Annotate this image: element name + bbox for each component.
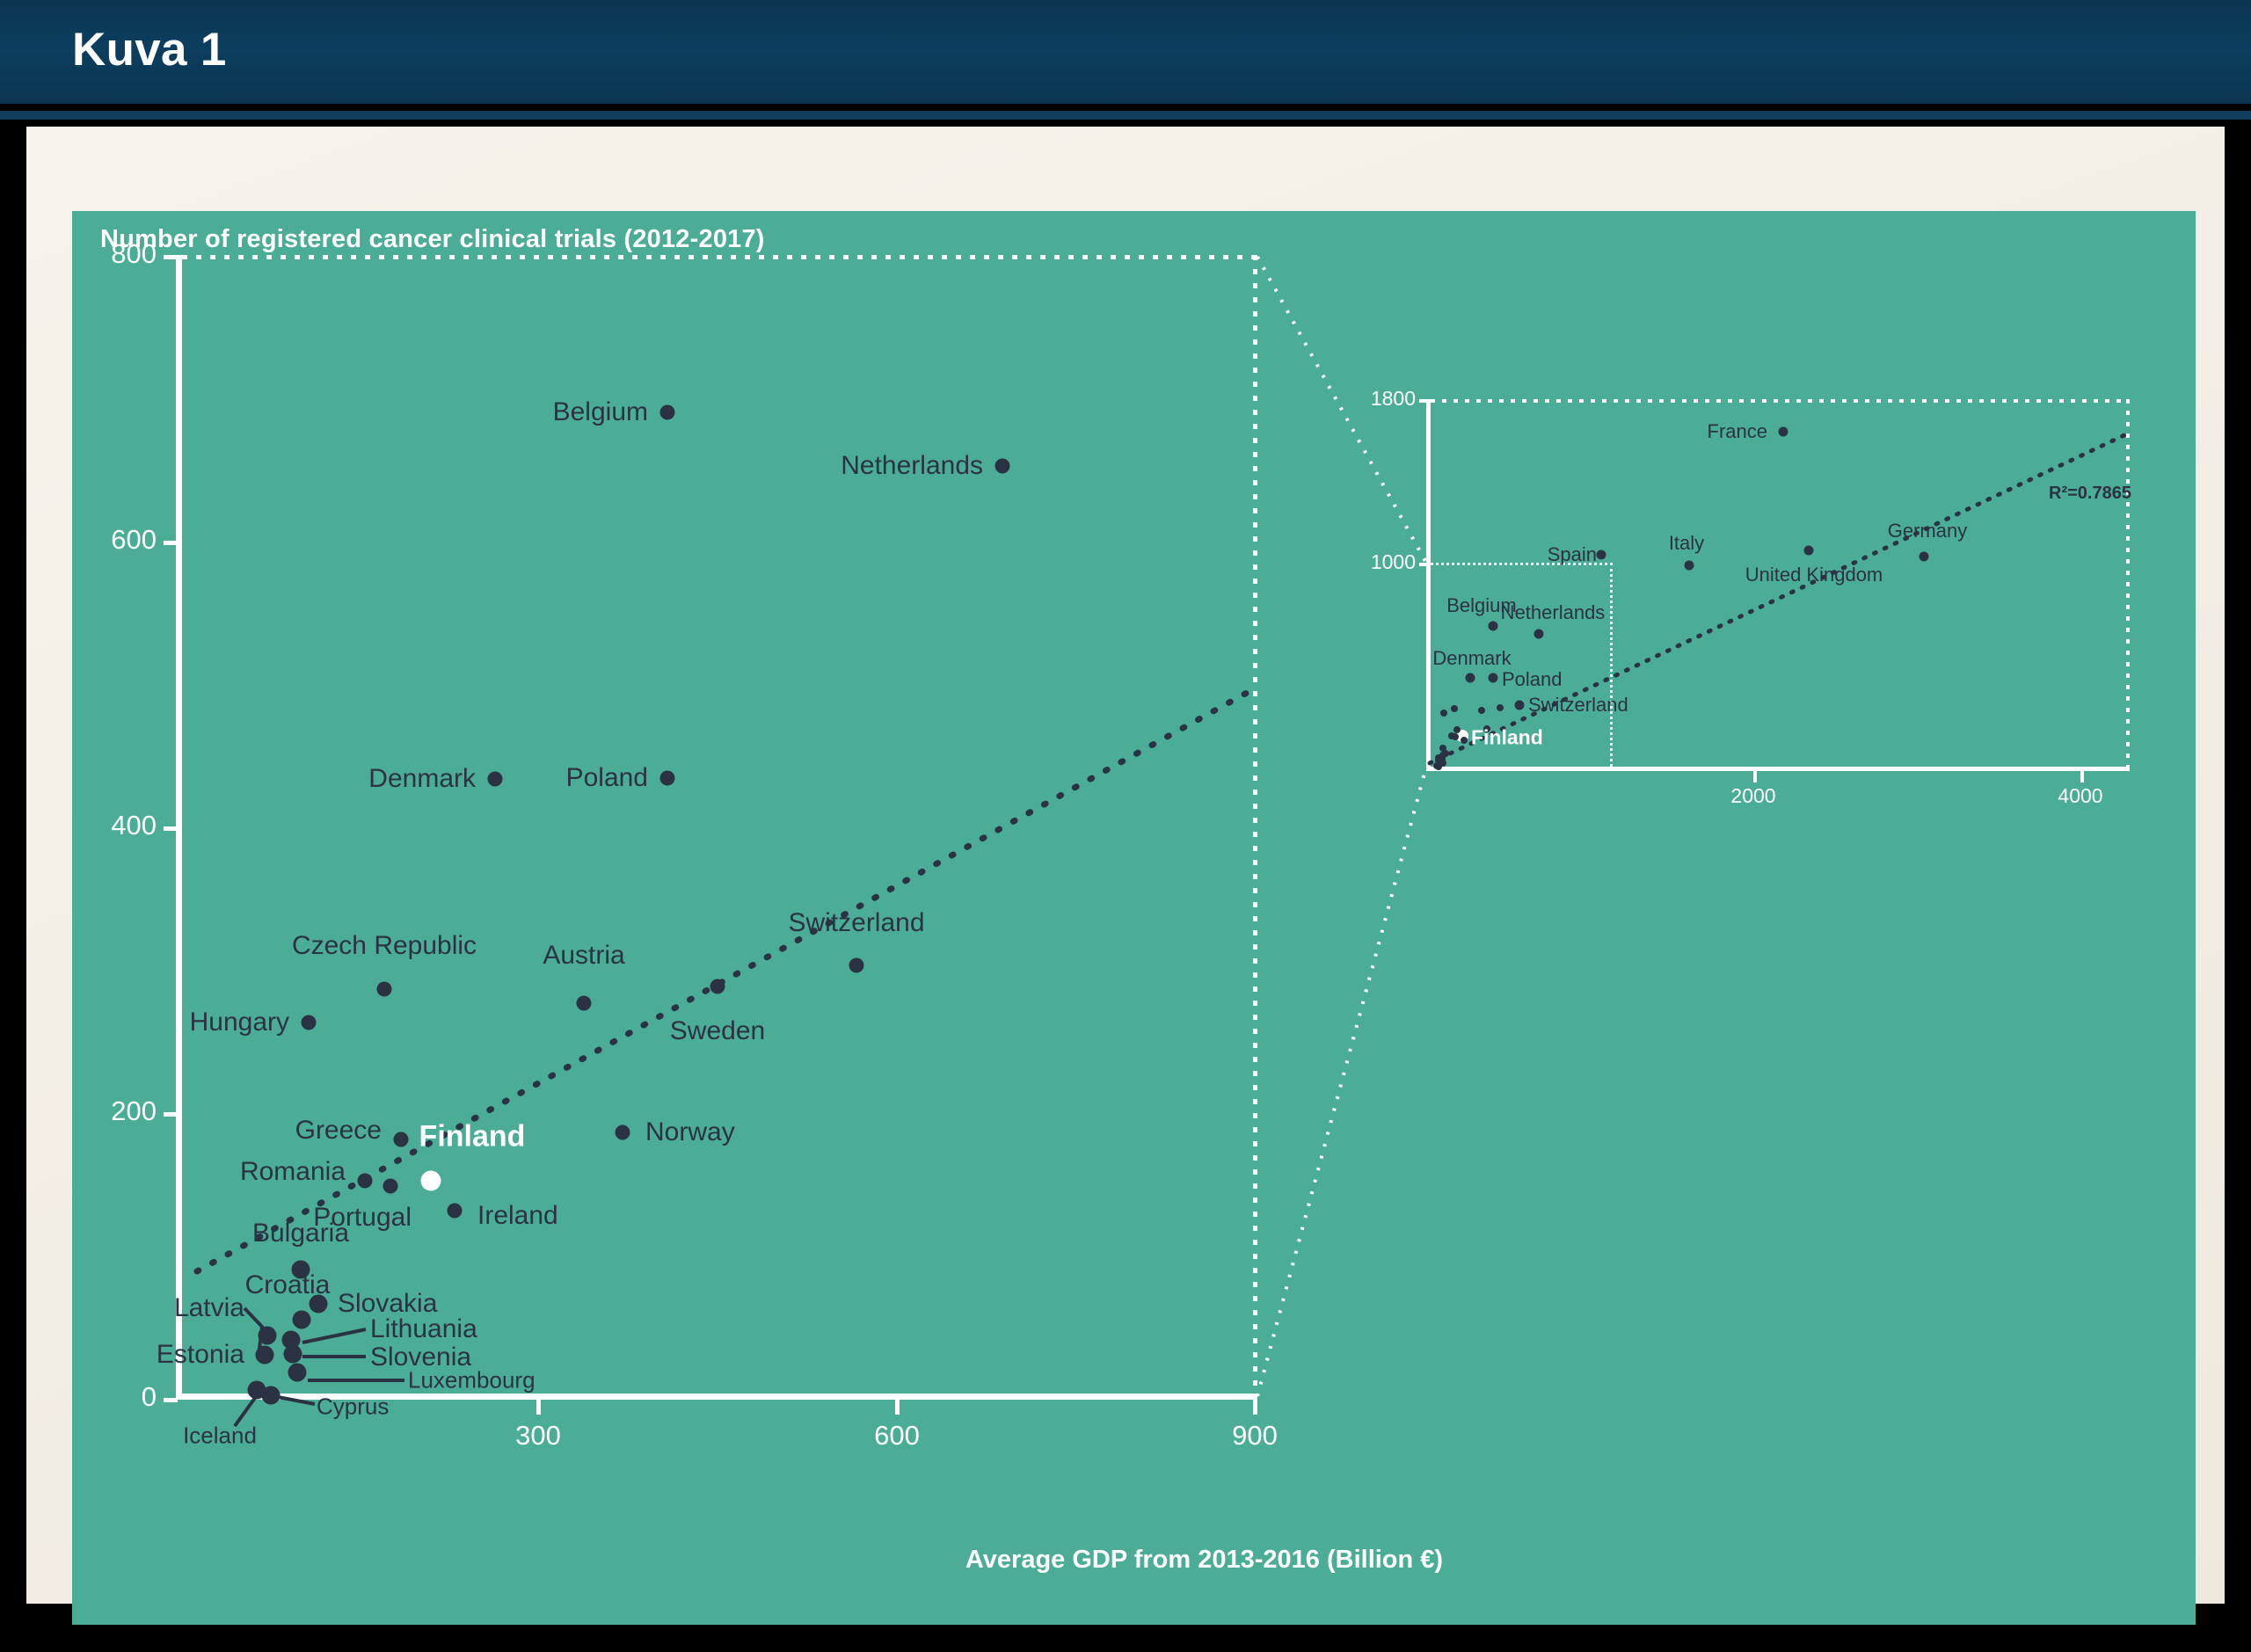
x-tick-label-600: 600 — [835, 1420, 958, 1452]
x-axis-title: Average GDP from 2013-2016 (Billion €) — [965, 1546, 1443, 1575]
inset-point-united-kingdom[interactable] — [1804, 546, 1814, 556]
inset-point-italy[interactable] — [1685, 561, 1694, 571]
point-latvia[interactable] — [259, 1327, 277, 1345]
inset-point-denmark[interactable] — [1466, 673, 1475, 683]
label-luxembourg: Luxembourg — [408, 1367, 535, 1394]
inset-r2-label: R²=0.7865 — [2049, 484, 2131, 504]
point-czech-republic[interactable] — [377, 982, 392, 997]
point-croatia[interactable] — [293, 1311, 311, 1329]
inset-label-france: France — [1708, 420, 1767, 443]
inset-point-poland[interactable] — [1489, 673, 1498, 683]
label-sweden: Sweden — [670, 1016, 765, 1046]
label-estonia: Estonia — [157, 1340, 244, 1370]
plot-border-top-dotted — [182, 255, 1255, 259]
label-lithuania: Lithuania — [370, 1314, 477, 1344]
inset-point-germany[interactable] — [1920, 552, 1929, 562]
point-cyprus[interactable] — [262, 1386, 280, 1405]
inset-point-portugal[interactable] — [1452, 733, 1459, 740]
label-austria: Austria — [543, 941, 624, 971]
inset-label-poland: Poland — [1502, 668, 1563, 691]
point-switzerland[interactable] — [849, 958, 864, 973]
inset-point-greece[interactable] — [1453, 726, 1461, 733]
inset-label-spain: Spain — [1548, 543, 1597, 566]
inset-point-france[interactable] — [1779, 427, 1788, 437]
point-sweden[interactable] — [710, 979, 725, 994]
inset-label-denmark: Denmark — [1432, 647, 1511, 670]
y-tick-label-200: 200 — [72, 1095, 157, 1127]
label-hungary: Hungary — [190, 1008, 289, 1037]
header-divider-bottom — [0, 120, 2251, 127]
label-switzerland: Switzerland — [788, 908, 924, 938]
label-finland: Finland — [419, 1120, 526, 1154]
point-portugal[interactable] — [383, 1179, 398, 1194]
inset-point-austria[interactable] — [1478, 707, 1485, 714]
label-croatia: Croatia — [245, 1270, 331, 1300]
slide-bottom-bar — [0, 1625, 2251, 1652]
inset-label-italy: Italy — [1669, 532, 1704, 555]
point-denmark[interactable] — [488, 772, 503, 787]
inset-label-netherlands: Netherlands — [1501, 601, 1606, 624]
header-divider-mid — [0, 111, 2251, 120]
slide-header-bar: Kuva 1 — [0, 0, 2251, 104]
point-greece[interactable] — [394, 1132, 409, 1147]
label-belgium: Belgium — [553, 397, 648, 427]
y-tick-label-800: 800 — [72, 238, 157, 270]
chart-panel: Number of registered cancer clinical tri… — [72, 211, 2196, 1652]
point-luxembourg[interactable] — [288, 1364, 307, 1382]
point-finland[interactable] — [421, 1171, 441, 1191]
point-austria[interactable] — [577, 996, 592, 1011]
point-poland[interactable] — [660, 771, 675, 786]
label-czech-republic: Czech Republic — [292, 931, 477, 961]
x-tick-label-300: 300 — [477, 1420, 600, 1452]
inset-label-germany: Germany — [1888, 520, 1967, 542]
inset-label-switzerland: Switzerland — [1528, 694, 1628, 717]
page-title: Kuva 1 — [72, 23, 227, 76]
label-latvia: Latvia — [174, 1293, 244, 1323]
x-tick-300 — [536, 1400, 541, 1415]
x-tick-label-900: 900 — [1193, 1420, 1316, 1452]
x-axis-title-wrap: Average GDP from 2013-2016 (Billion €) — [72, 1546, 2196, 1575]
label-norway: Norway — [645, 1117, 735, 1147]
point-romania[interactable] — [358, 1174, 373, 1189]
point-hungary[interactable] — [302, 1015, 317, 1030]
inset-point-switzerland[interactable] — [1515, 701, 1525, 710]
label-denmark: Denmark — [368, 764, 476, 794]
y-tick-400 — [164, 826, 178, 831]
y-tick-800 — [164, 255, 178, 259]
inset-point-hungary[interactable] — [1440, 710, 1447, 717]
point-estonia[interactable] — [256, 1346, 274, 1365]
label-iceland: Iceland — [183, 1423, 257, 1450]
point-ireland[interactable] — [448, 1204, 463, 1219]
x-tick-900 — [1253, 1400, 1257, 1415]
inset-point-sweden[interactable] — [1497, 704, 1504, 711]
label-greece: Greece — [295, 1116, 382, 1146]
point-belgium[interactable] — [660, 405, 675, 420]
inset-scatter-plot: 1800 1000 2000 4000 R²=0.7865 — [1380, 387, 2154, 800]
y-tick-label-0: 0 — [72, 1381, 157, 1413]
y-tick-0 — [164, 1398, 178, 1402]
y-tick-label-400: 400 — [72, 810, 157, 841]
label-ireland: Ireland — [477, 1201, 558, 1231]
slide-page: Kuva 1 Number of registered cancer clini… — [0, 0, 2251, 1652]
inset-label-united-kingdom: United Kingdom — [1745, 564, 1883, 586]
label-cyprus: Cyprus — [317, 1394, 389, 1421]
inset-point-cyprus[interactable] — [1435, 763, 1442, 770]
point-slovenia[interactable] — [284, 1345, 302, 1364]
point-netherlands[interactable] — [995, 459, 1010, 474]
slide-body: Number of registered cancer clinical tri… — [26, 127, 2225, 1604]
label-bulgaria: Bulgaria — [252, 1219, 349, 1248]
inset-point-belgium[interactable] — [1489, 622, 1498, 631]
point-norway[interactable] — [616, 1125, 630, 1140]
inset-point-ireland[interactable] — [1461, 737, 1468, 744]
label-romania: Romania — [240, 1157, 346, 1187]
y-tick-600 — [164, 541, 178, 545]
inset-point-spain[interactable] — [1597, 550, 1606, 560]
inset-point-netherlands[interactable] — [1534, 630, 1544, 639]
x-tick-600 — [895, 1400, 900, 1415]
header-divider-top — [0, 104, 2251, 111]
inset-point-czech-republic[interactable] — [1451, 705, 1458, 712]
y-tick-200 — [164, 1112, 178, 1117]
label-netherlands: Netherlands — [841, 451, 983, 481]
label-poland: Poland — [566, 763, 648, 793]
inset-label-finland: Finland — [1471, 726, 1543, 750]
plot-border-right-dotted — [1253, 255, 1257, 1398]
y-tick-label-600: 600 — [72, 524, 157, 556]
